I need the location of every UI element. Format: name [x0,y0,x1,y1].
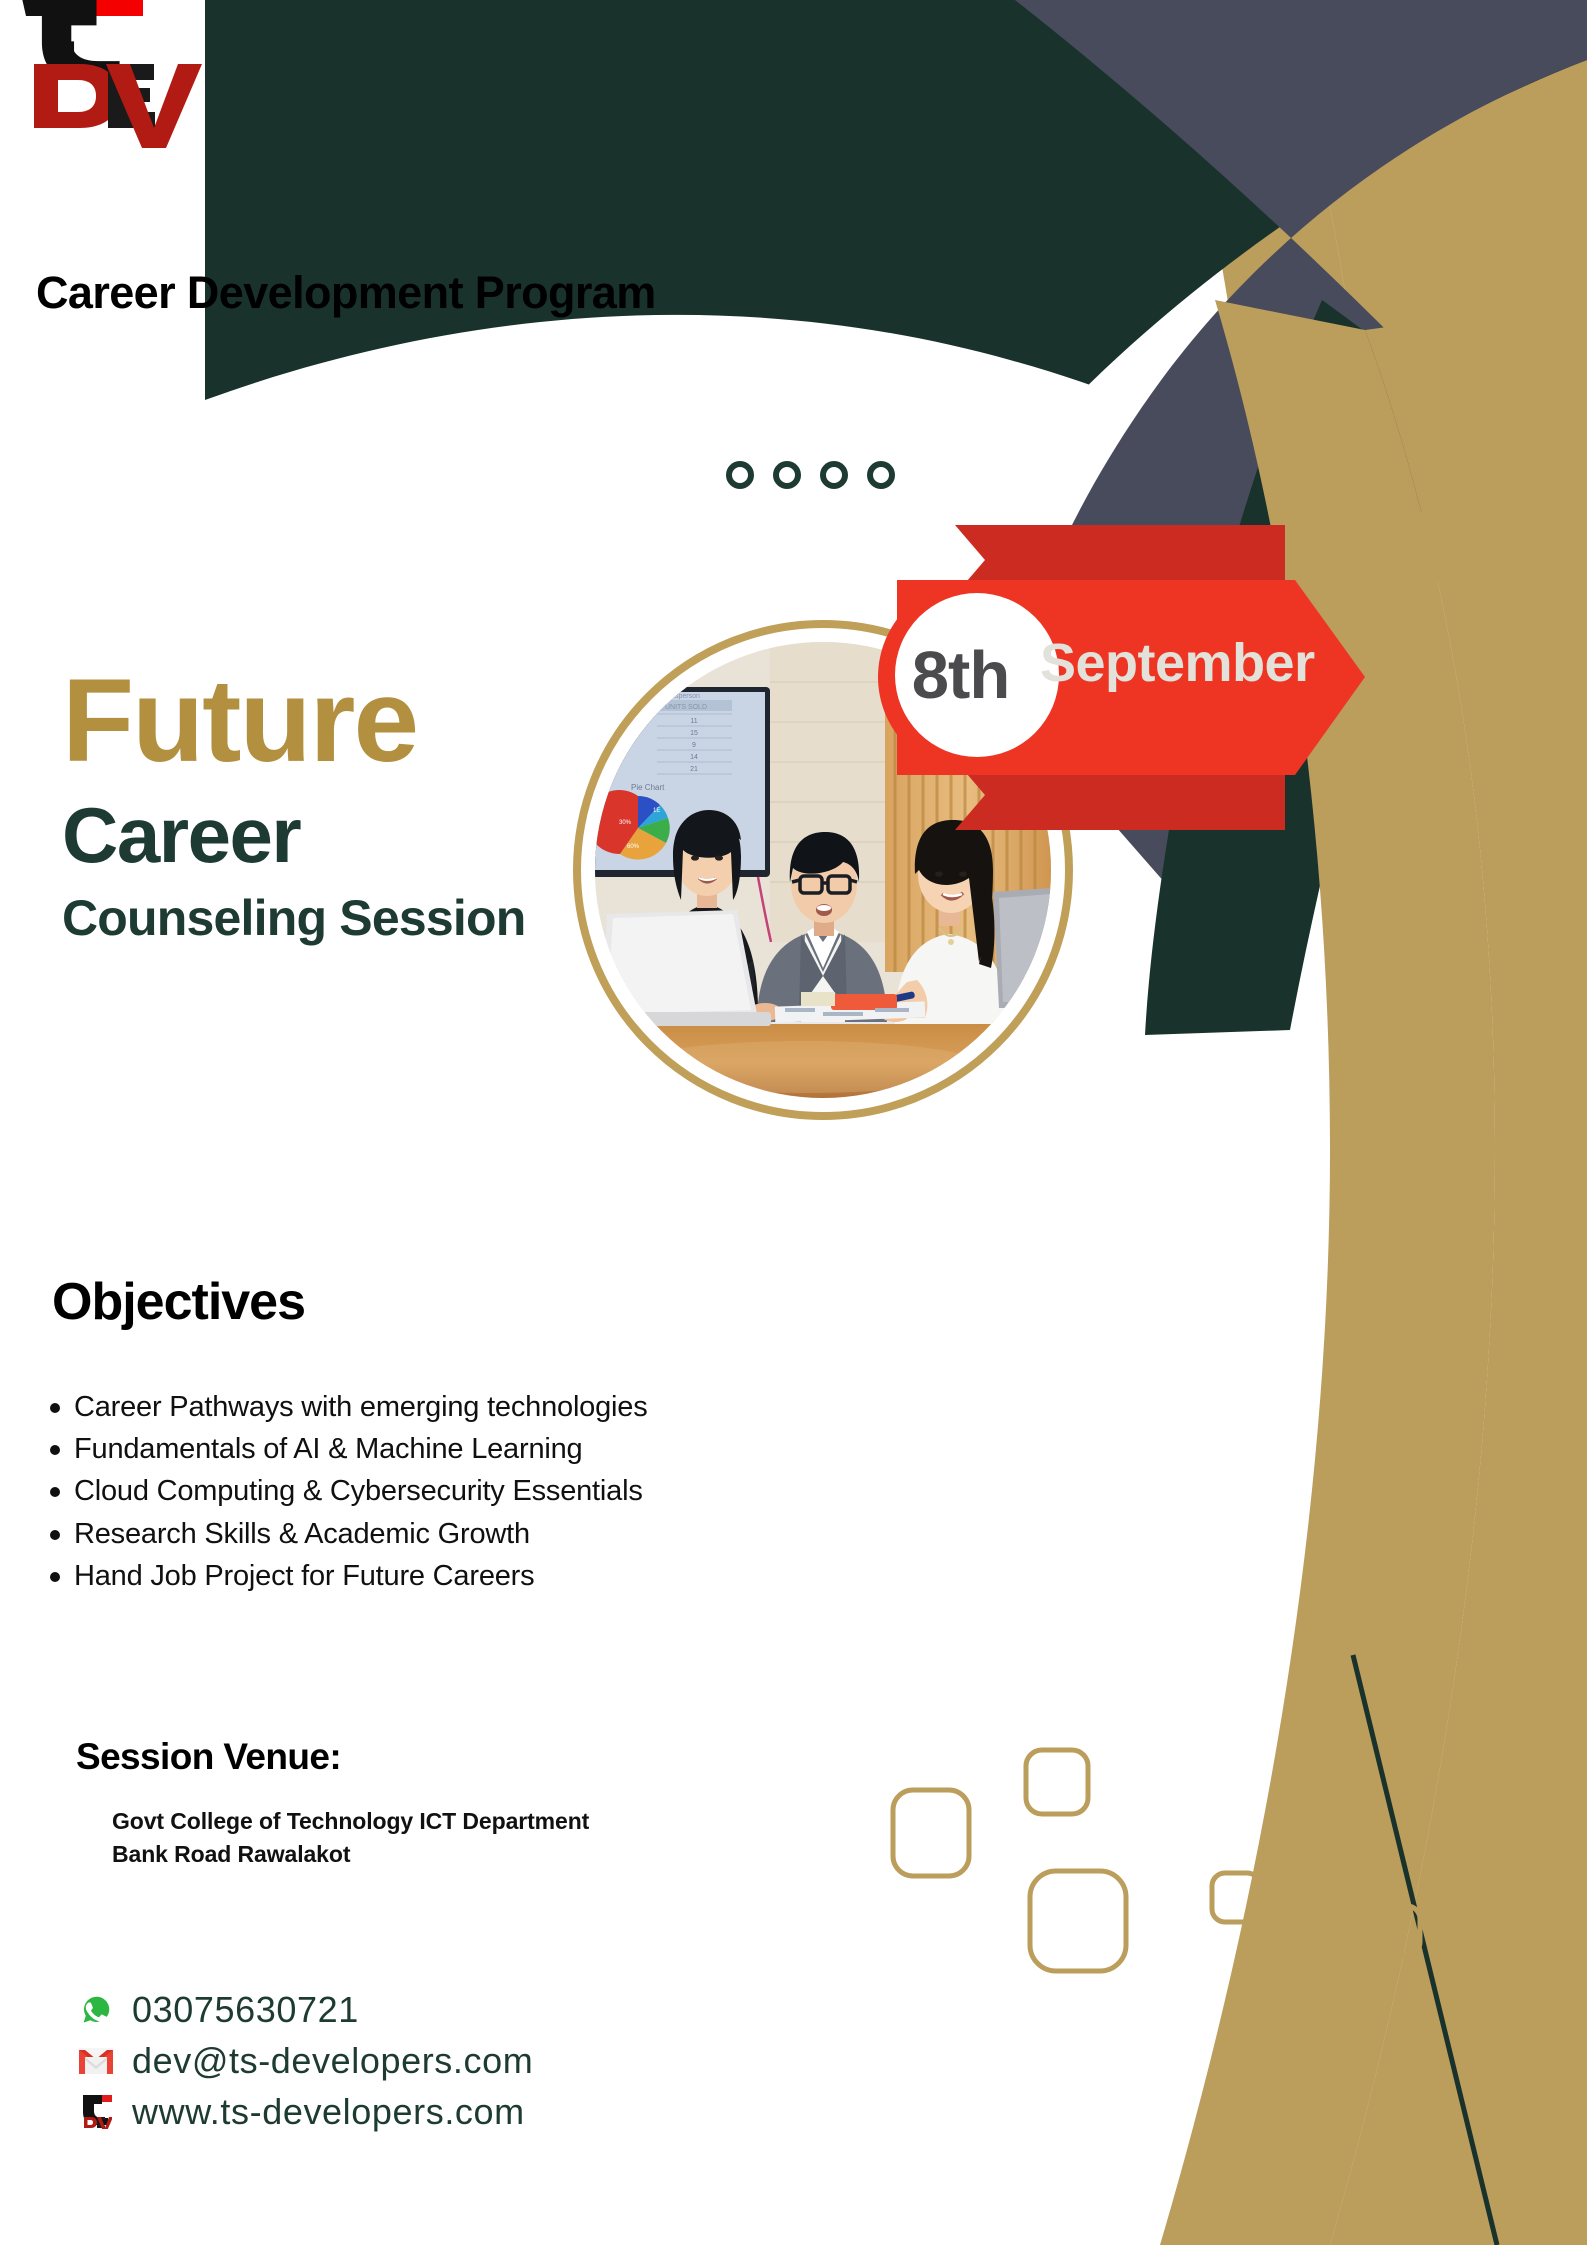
bullet-icon [50,1445,60,1455]
program-title: Career Development Program [36,267,656,319]
venue-line-2: Bank Road Rawalakot [112,1838,589,1871]
objective-text: Research Skills & Academic Growth [74,1517,670,1551]
ring-icon-2 [773,461,801,489]
ts-dev-logo-icon [78,2094,114,2130]
date-month: September [1040,632,1315,694]
ring-icon-4 [867,461,895,489]
list-item: Fundamentals of AI & Machine Learning [50,1432,670,1466]
svg-text:Pie Chart: Pie Chart [631,783,665,792]
contact-row-phone[interactable]: 03075630721 [78,1984,533,2035]
date-day: 8th [873,629,1048,721]
venue-address: Govt College of Technology ICT Departmen… [112,1805,589,1870]
date-badge: 8th September [855,505,1375,850]
contact-list: 03075630721 dev@ts-developers.com [78,1984,533,2137]
headline-line-2: Career [62,795,525,877]
svg-text:11: 11 [690,718,697,725]
ts-dev-logo-icon [18,0,248,184]
headline-line-1: Future [62,662,525,780]
venue-title: Session Venue: [76,1736,341,1778]
ring-icon-3 [820,461,848,489]
headline-line-3: Counseling Session [62,891,525,946]
list-item: Career Pathways with emerging technologi… [50,1390,670,1424]
list-item: Hand Job Project for Future Careers [50,1559,670,1593]
ring-icon-1 [726,461,754,489]
gmail-icon [78,2043,114,2079]
bullet-icon [50,1572,60,1582]
background-decoration [0,0,1587,2245]
objective-text: Cloud Computing & Cybersecurity Essentia… [74,1474,670,1508]
bullet-icon [50,1403,60,1413]
logo [18,0,248,184]
whatsapp-icon [78,1992,114,2028]
svg-text:1E: 1E [653,808,660,814]
svg-text:UNITS SOLD: UNITS SOLD [665,704,707,711]
logo-dev-word [34,64,202,148]
venue-line-1: Govt College of Technology ICT Departmen… [112,1805,589,1838]
svg-text:30%: 30% [619,820,632,826]
list-item: Cloud Computing & Cybersecurity Essentia… [50,1474,670,1508]
bullet-icon [50,1530,60,1540]
phone-number: 03075630721 [132,1992,359,2028]
objectives-list: Career Pathways with emerging technologi… [50,1390,670,1601]
list-item: Research Skills & Academic Growth [50,1517,670,1551]
objective-text: Fundamentals of AI & Machine Learning [74,1432,670,1466]
svg-text:21: 21 [690,766,698,773]
email-address: dev@ts-developers.com [132,2043,533,2079]
bullet-icon [50,1487,60,1497]
poster-canvas: Career Development Program 8th September [0,0,1587,2245]
headline-block: Future Career Counseling Session [62,662,525,946]
contact-row-email[interactable]: dev@ts-developers.com [78,2035,533,2086]
svg-text:60%: 60% [627,844,640,850]
website-url: www.ts-developers.com [132,2094,525,2130]
svg-text:14: 14 [690,754,698,761]
objective-text: Hand Job Project for Future Careers [74,1559,670,1593]
svg-text:15: 15 [690,730,698,737]
svg-text:9: 9 [692,742,696,749]
objective-text: Career Pathways with emerging technologi… [74,1390,670,1424]
ring-decoration-group [726,461,895,489]
objectives-title: Objectives [52,1272,305,1332]
contact-row-website[interactable]: www.ts-developers.com [78,2086,533,2137]
